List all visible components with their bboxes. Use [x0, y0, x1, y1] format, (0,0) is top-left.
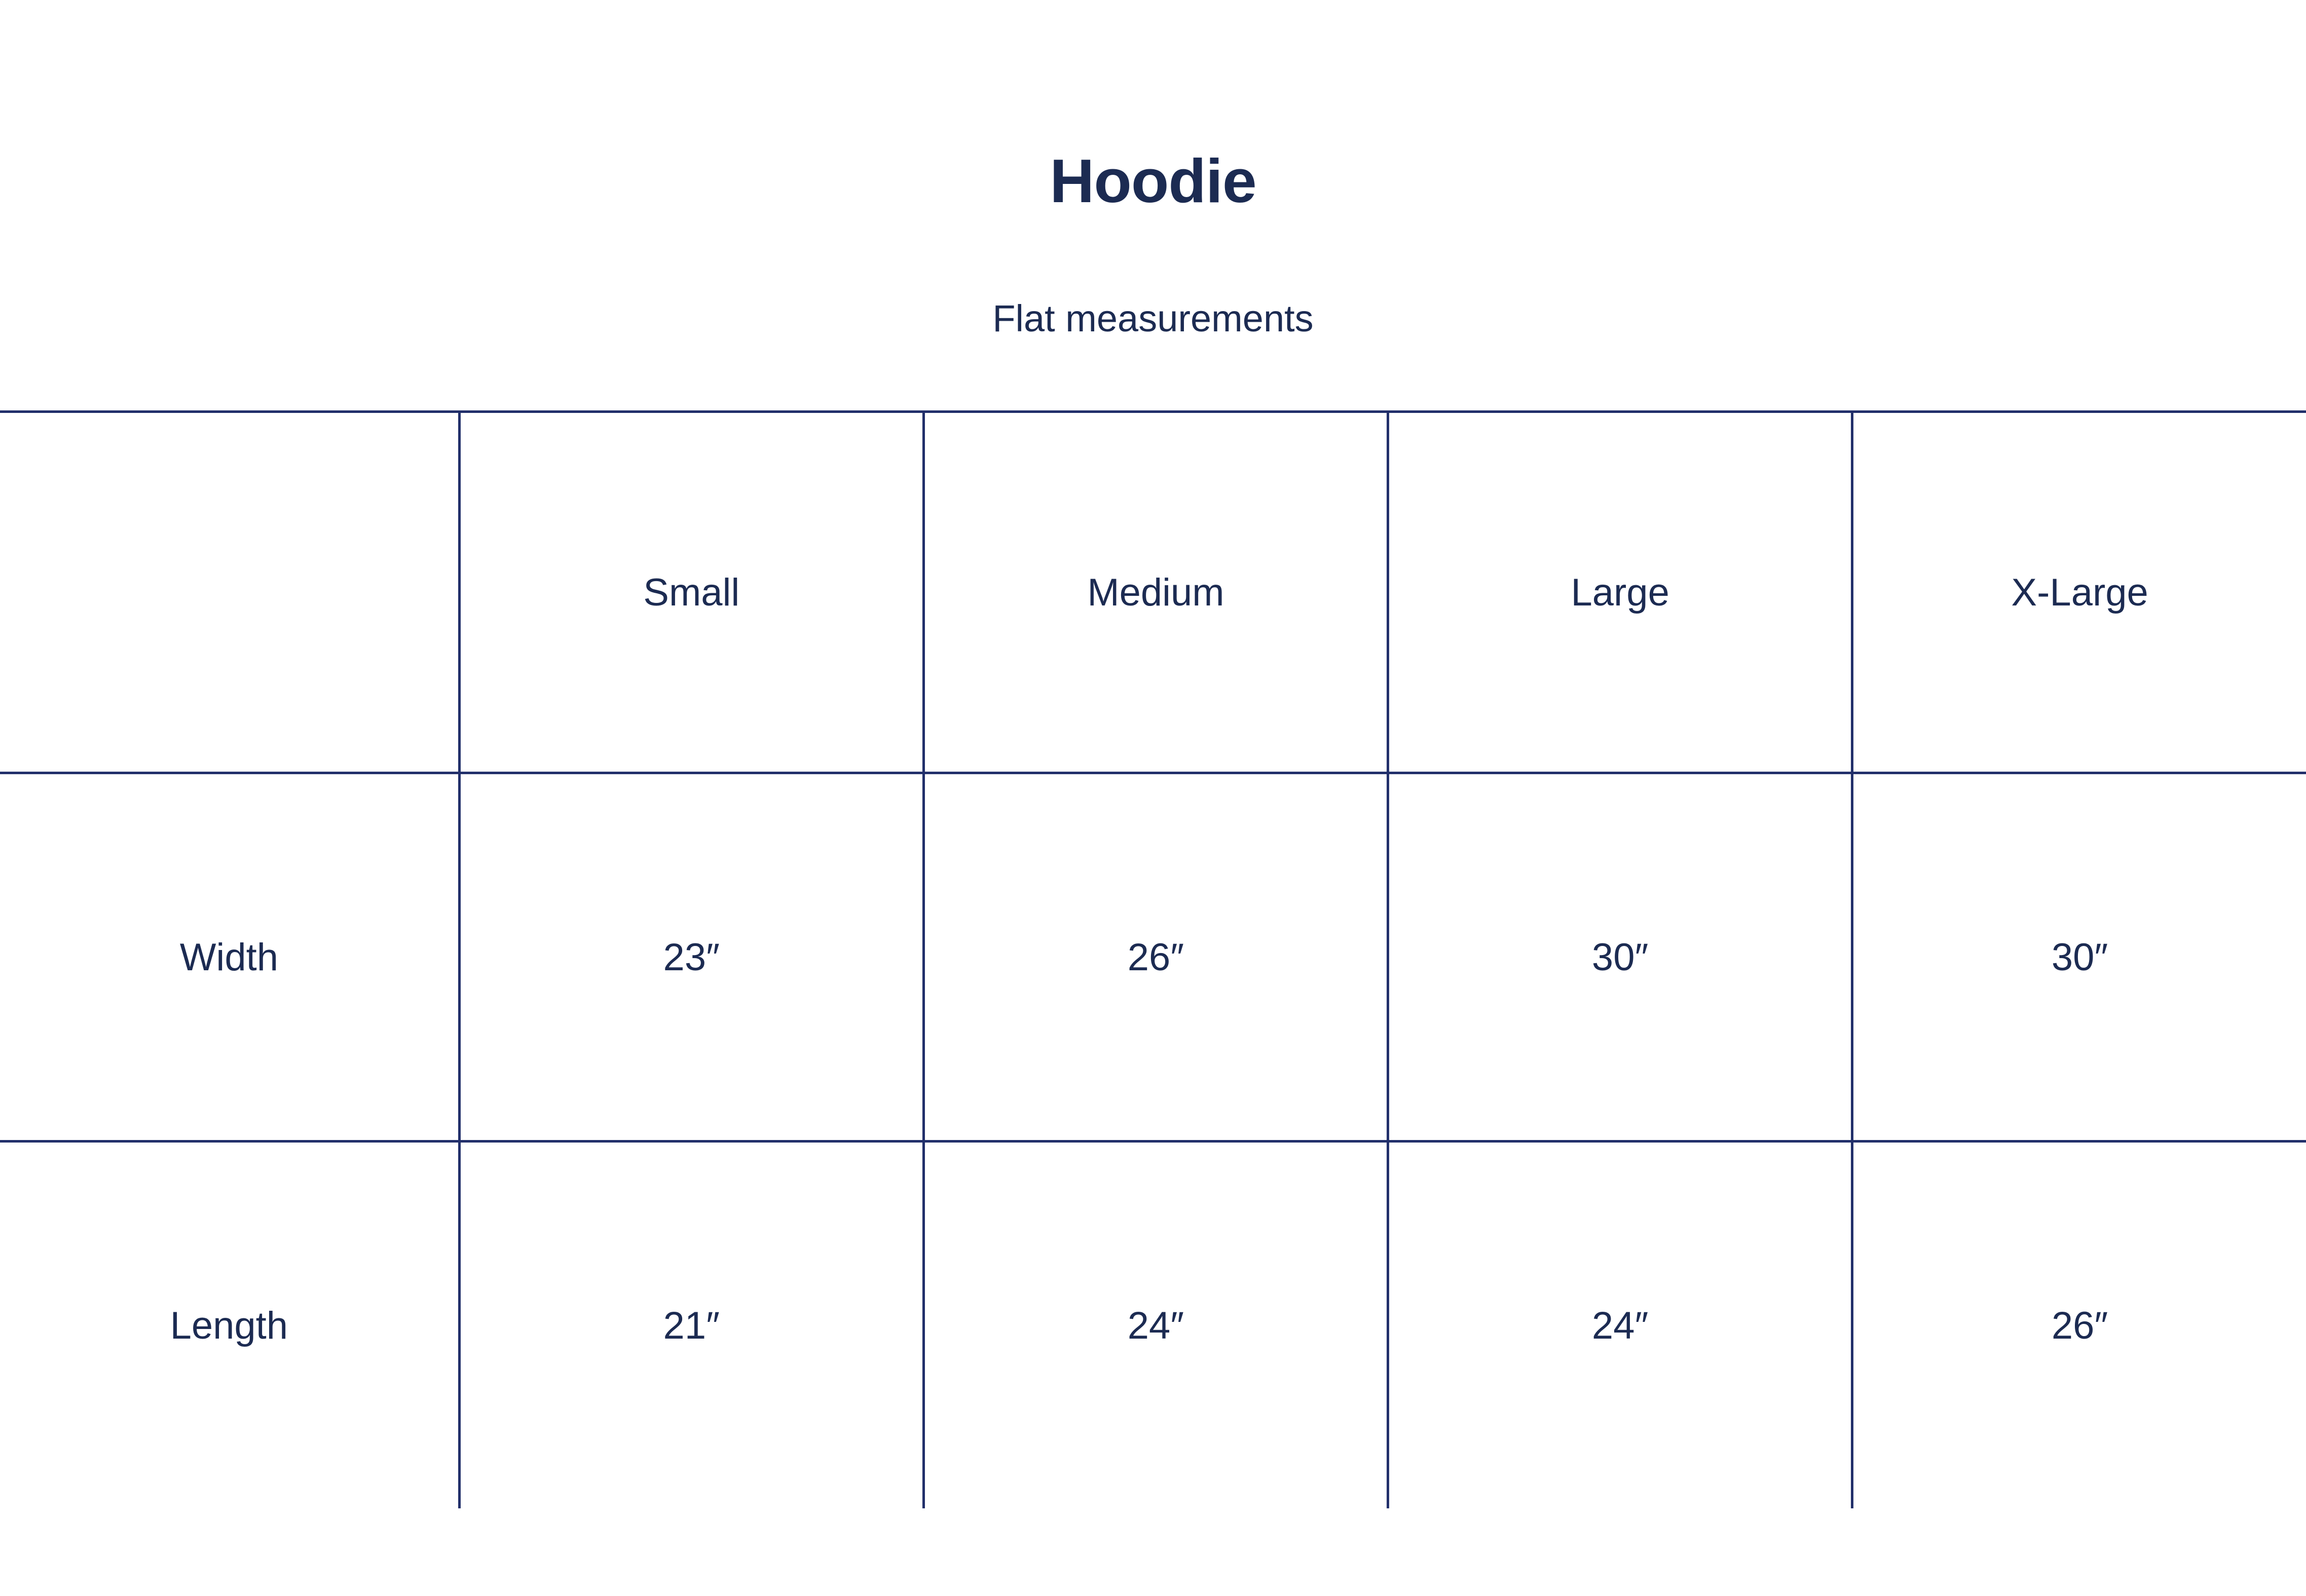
table-corner-cell	[0, 412, 459, 773]
column-header-large: Large	[1388, 412, 1852, 773]
size-measurements-table: Small Medium Large X-Large Width 23″ 26″…	[0, 410, 2306, 1508]
page-subtitle: Flat measurements	[0, 300, 2306, 337]
column-header-small: Small	[459, 412, 923, 773]
table-row-width: Width 23″ 26″ 30″ 30″	[0, 773, 2306, 1142]
cell-length-large: 24″	[1388, 1142, 1852, 1509]
cell-length-small: 21″	[459, 1142, 923, 1509]
table-bottom-bleed	[0, 1517, 2306, 1596]
cell-length-x-large: 26″	[1852, 1142, 2306, 1509]
cell-width-large: 30″	[1388, 773, 1852, 1142]
cell-length-medium: 24″	[923, 1142, 1388, 1509]
column-header-medium: Medium	[923, 412, 1388, 773]
row-label-width: Width	[0, 773, 459, 1142]
table-header-row: Small Medium Large X-Large	[0, 412, 2306, 773]
cell-width-x-large: 30″	[1852, 773, 2306, 1142]
page-title: Hoodie	[0, 150, 2306, 212]
size-chart-container: Small Medium Large X-Large Width 23″ 26″…	[0, 410, 2306, 1596]
column-header-x-large: X-Large	[1852, 412, 2306, 773]
cell-width-small: 23″	[459, 773, 923, 1142]
cell-width-medium: 26″	[923, 773, 1388, 1142]
table-row-length: Length 21″ 24″ 24″ 26″	[0, 1142, 2306, 1509]
header-block: Hoodie Flat measurements	[0, 0, 2306, 410]
row-label-length: Length	[0, 1142, 459, 1509]
